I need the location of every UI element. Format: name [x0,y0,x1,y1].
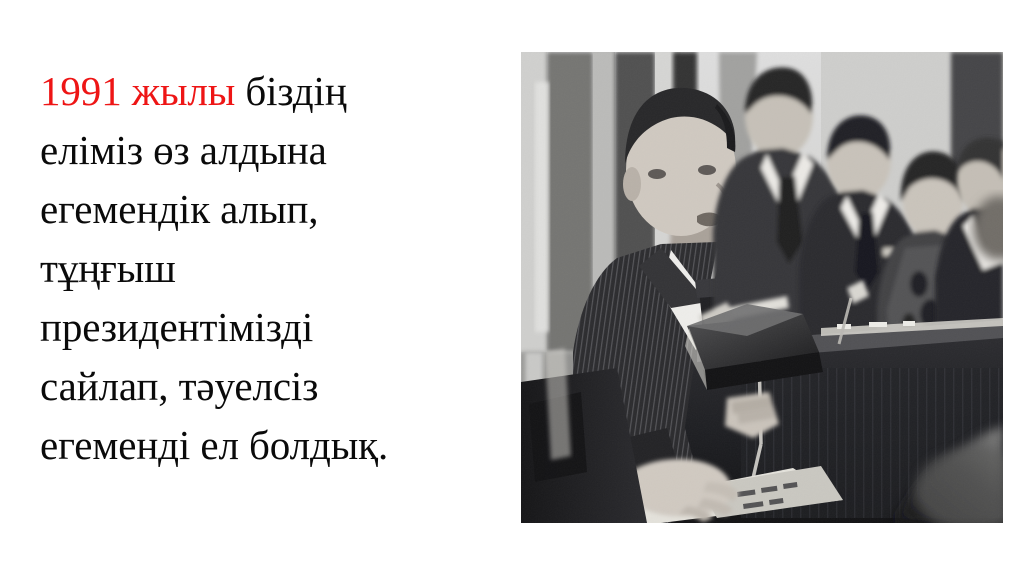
caption-line-2: еліміз өз алдына [40,121,508,180]
historical-photograph [521,52,1003,523]
caption-line-7: егеменді ел болдық. [40,416,508,475]
caption-line-3: егемендік алып, [40,180,508,239]
caption-line-4: тұңғыш [40,239,508,298]
caption-line-1: 1991 жылы біздің [40,62,508,121]
photograph-artwork [521,52,1003,523]
caption-line-5: президентімізді [40,298,508,357]
caption-text-block: 1991 жылы біздің еліміз өз алдына егемен… [40,62,508,492]
caption-line-1-rest: біздің [235,68,346,114]
slide-canvas: 1991 жылы біздің еліміз өз алдына егемен… [0,0,1024,576]
caption-line-6: сайлап, тәуелсіз [40,357,508,416]
caption-highlight-year: 1991 жылы [40,68,235,114]
